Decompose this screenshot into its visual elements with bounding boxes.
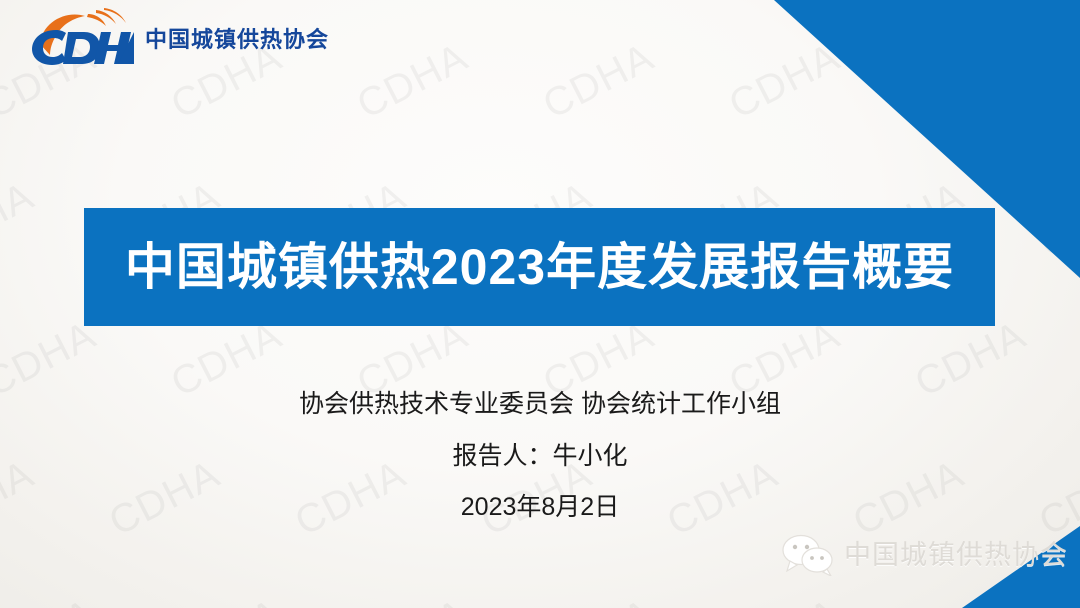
presentation-slide: CDHACDHACDHACDHACDHACDHACDHACDHACDHACDHA… bbox=[0, 0, 1080, 608]
watermark-text: CDHA bbox=[536, 35, 661, 128]
watermark-text: CDHA bbox=[536, 591, 661, 608]
slide-title-band: 中国城镇供热2023年度发展报告概要 bbox=[84, 208, 995, 326]
cdha-flame-logo-icon bbox=[22, 8, 134, 66]
watermark-text: CDHA bbox=[0, 174, 41, 267]
subtitle-line-committee: 协会供热技术专业委员会 协会统计工作小组 bbox=[0, 392, 1080, 417]
subtitle-line-presenter: 报告人：牛小化 bbox=[0, 444, 1080, 469]
association-name: 中国城镇供热协会 bbox=[145, 23, 329, 51]
watermark-text: CDHA bbox=[350, 35, 475, 128]
watermark-text: CDHA bbox=[350, 591, 475, 608]
subtitle-line-date: 2023年8月2日 bbox=[0, 495, 1080, 520]
watermark-text: CDHA bbox=[722, 591, 847, 608]
slide-subtitle-block: 协会供热技术专业委员会 协会统计工作小组 报告人：牛小化 2023年8月2日 bbox=[0, 392, 1080, 520]
wechat-badge: 中国城镇供热协会 bbox=[782, 534, 1068, 576]
wechat-icon bbox=[782, 534, 836, 576]
watermark-text: CDHA bbox=[164, 591, 289, 608]
watermark-text: CDHA bbox=[0, 591, 103, 608]
brand-header: 中国城镇供热协会 bbox=[22, 8, 329, 66]
slide-title: 中国城镇供热2023年度发展报告概要 bbox=[125, 241, 954, 294]
wechat-account-name: 中国城镇供热协会 bbox=[844, 542, 1068, 569]
